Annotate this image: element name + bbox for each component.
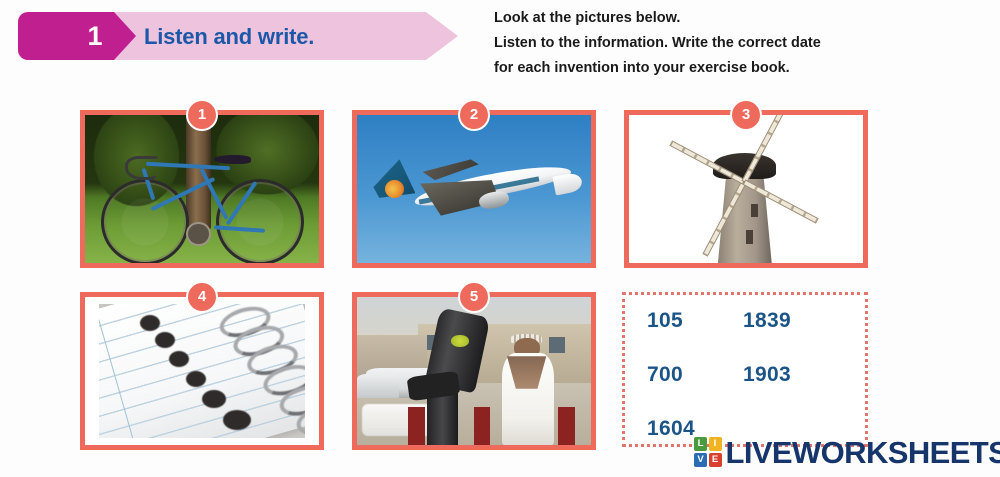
- date-option-1604[interactable]: 1604: [647, 417, 695, 441]
- logo-letter-tiles: L I V E: [694, 437, 722, 467]
- notebook-illustration: [85, 297, 319, 445]
- picture-1-image: [85, 115, 319, 263]
- logo-tile-i: I: [709, 437, 722, 451]
- exercise-number-tag: [18, 12, 136, 60]
- date-option-1903[interactable]: 1903: [743, 363, 791, 387]
- exercise-header-banner: 1 Listen and write.: [18, 12, 458, 60]
- logo-tile-e: E: [709, 453, 722, 467]
- instruction-line-1: Look at the pictures below.: [494, 6, 894, 31]
- date-option-105[interactable]: 105: [647, 309, 683, 333]
- bicycle-crankset: [186, 222, 211, 247]
- red-barrier-left: [408, 407, 424, 445]
- bicycle-illustration: [85, 115, 319, 263]
- picture-badge-4: 4: [186, 281, 218, 313]
- building-window-3: [549, 337, 565, 353]
- windmill-window-lower: [746, 230, 753, 243]
- airplane-nose: [552, 172, 583, 196]
- red-barrier-middle: [474, 407, 490, 445]
- airplane-illustration: [357, 115, 591, 263]
- picture-3-image: [629, 115, 863, 263]
- picture-badge-5: 5: [458, 281, 490, 313]
- picture-card-3[interactable]: 3: [624, 110, 868, 268]
- parked-car-second: [357, 374, 399, 398]
- logo-tile-l: L: [694, 437, 707, 451]
- bicycle-handlebar: [125, 156, 159, 180]
- picture-card-5[interactable]: 5: [352, 292, 596, 450]
- date-option-1839[interactable]: 1839: [743, 309, 791, 333]
- instruction-line-2: Listen to the information. Write the cor…: [494, 31, 894, 56]
- instruction-line-3: for each invention into your exercise bo…: [494, 56, 894, 81]
- picture-badge-3: 3: [730, 99, 762, 131]
- picture-5-image: [357, 297, 591, 445]
- exercise-number: 1: [78, 20, 112, 52]
- tree-trunk-shape: [186, 115, 212, 230]
- bicycle-front-wheel: [101, 179, 189, 263]
- picture-card-1[interactable]: 1: [80, 110, 324, 268]
- airplane-far-wing: [423, 159, 479, 180]
- page-title: Listen and write.: [144, 23, 314, 50]
- red-barrier-right: [558, 407, 574, 445]
- date-option-700[interactable]: 700: [647, 363, 683, 387]
- picture-card-4[interactable]: 4: [80, 292, 324, 450]
- bicycle-saddle: [214, 155, 251, 164]
- picture-badge-2: 2: [458, 99, 490, 131]
- logo-wordmark: LIVEWORKSHEETS: [726, 436, 1000, 469]
- logo-tile-v: V: [694, 453, 707, 467]
- windmill-window-upper: [751, 204, 758, 217]
- picture-2-image: [357, 115, 591, 263]
- airplane-tail-logo: [385, 180, 404, 198]
- picture-badge-1: 1: [186, 99, 218, 131]
- notebook-photo-area: [99, 304, 305, 437]
- instructions-block: Look at the pictures below. Listen to th…: [494, 6, 894, 81]
- telescope-illustration: [357, 297, 591, 445]
- windmill-illustration: [629, 115, 863, 263]
- picture-card-2[interactable]: 2: [352, 110, 596, 268]
- dates-answer-box[interactable]: 105 1839 700 1903 1604: [622, 292, 868, 447]
- liveworksheets-logo: L I V E LIVEWORKSHEETS: [694, 432, 1000, 472]
- picture-4-image: [85, 297, 319, 445]
